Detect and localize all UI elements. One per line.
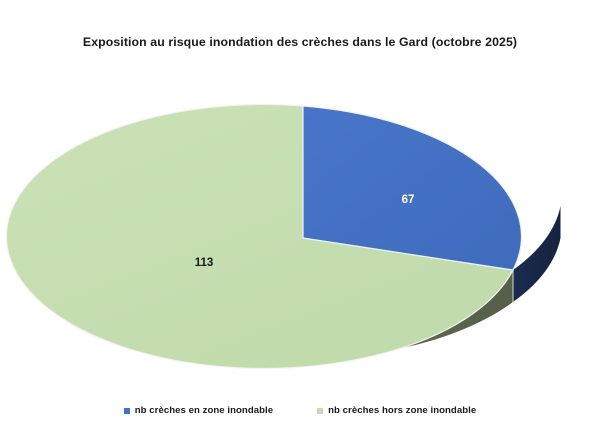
- chart-legend: nb crèches en zone inondable nb crèches …: [0, 400, 600, 422]
- pie-graphic: [0, 58, 600, 388]
- legend-item-en-zone-inondable[interactable]: nb crèches en zone inondable: [124, 405, 273, 417]
- chart-title: Exposition au risque inondation des crèc…: [0, 34, 600, 50]
- legend-label-hors-zone-inondable: nb crèches hors zone inondable: [328, 405, 476, 417]
- legend-label-en-zone-inondable: nb crèches en zone inondable: [135, 405, 273, 417]
- pie-chart-figure: Exposition au risque inondation des crèc…: [0, 0, 600, 435]
- legend-item-hors-zone-inondable[interactable]: nb crèches hors zone inondable: [317, 405, 476, 417]
- plot-area: 67 113: [0, 58, 600, 388]
- pie-data-label-en-zone-inondable: 67: [378, 194, 438, 207]
- pie-top-faces: [6, 104, 521, 368]
- legend-swatch-icon-blue: [124, 408, 130, 414]
- legend-swatch-icon-green: [317, 408, 323, 414]
- pie-data-label-hors-zone-inondable: 113: [174, 257, 234, 270]
